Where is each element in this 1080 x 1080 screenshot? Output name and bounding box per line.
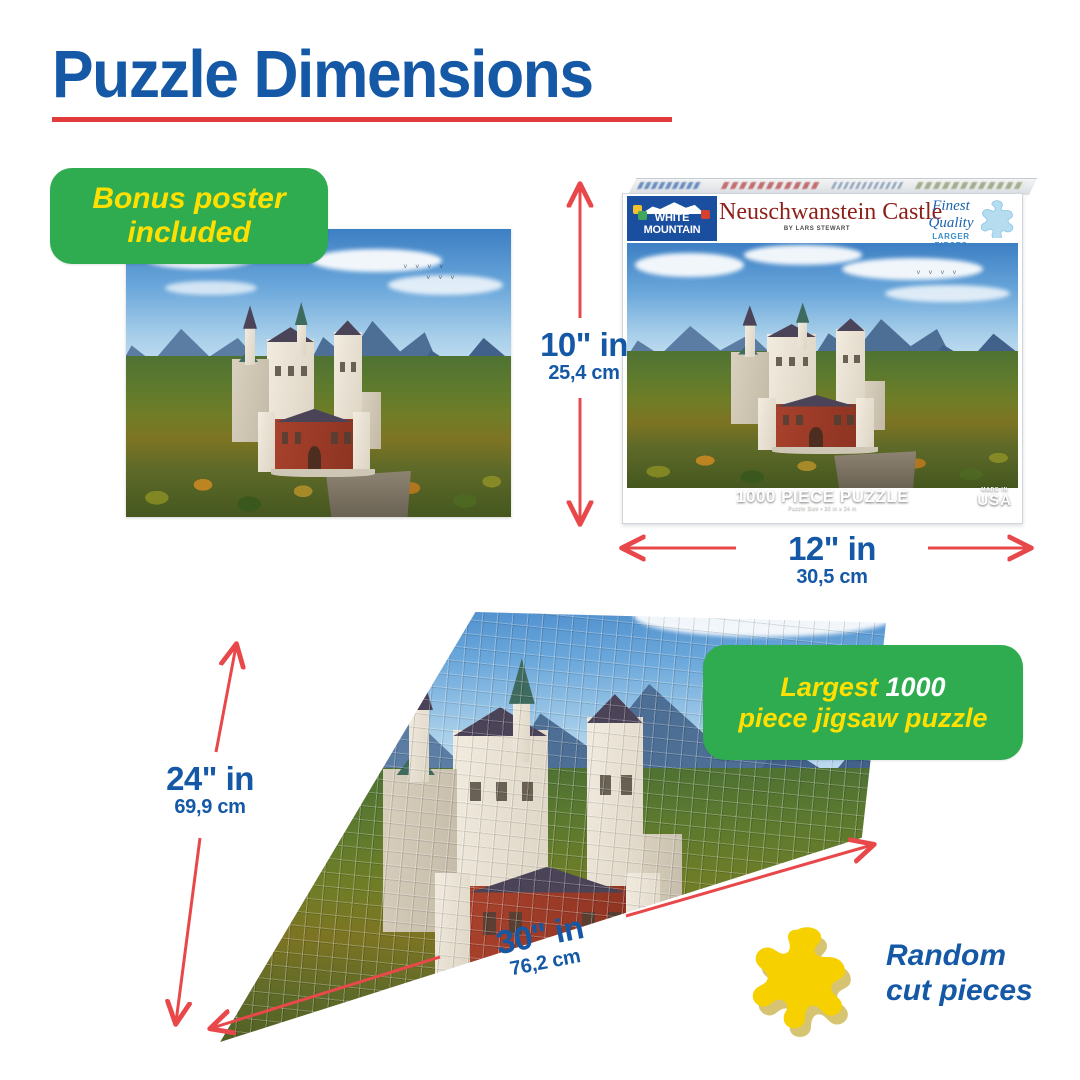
label-puzzle-height: 24" in 69,9 cm (140, 762, 280, 819)
box-width-cm: 30,5 cm (742, 566, 922, 589)
box-height-cm: 25,4 cm (528, 362, 640, 385)
puzzle-height-inches: 24" in (140, 762, 280, 796)
random-cut-puzzle-piece-icon (748, 920, 866, 1038)
box-width-inches: 12" in (742, 532, 922, 566)
label-box-width: 12" in 30,5 cm (742, 532, 922, 589)
random-cut-line2: cut pieces (886, 973, 1066, 1008)
arrow-puzzle-height-up (216, 646, 236, 752)
random-cut-label: Random cut pieces (886, 938, 1066, 1009)
arrow-puzzle-width-right (626, 845, 872, 916)
label-box-height: 10" in 25,4 cm (528, 328, 640, 385)
arrow-puzzle-height-down (176, 838, 200, 1022)
random-cut-line1: Random (886, 938, 1066, 973)
arrow-puzzle-width-left (212, 957, 440, 1028)
infographic-canvas: Puzzle Dimensions ˅ ˅ ˅ ˅ ˅ ˅ ˅ (0, 0, 1080, 1080)
box-height-inches: 10" in (528, 328, 640, 362)
puzzle-height-cm: 69,9 cm (140, 796, 280, 819)
